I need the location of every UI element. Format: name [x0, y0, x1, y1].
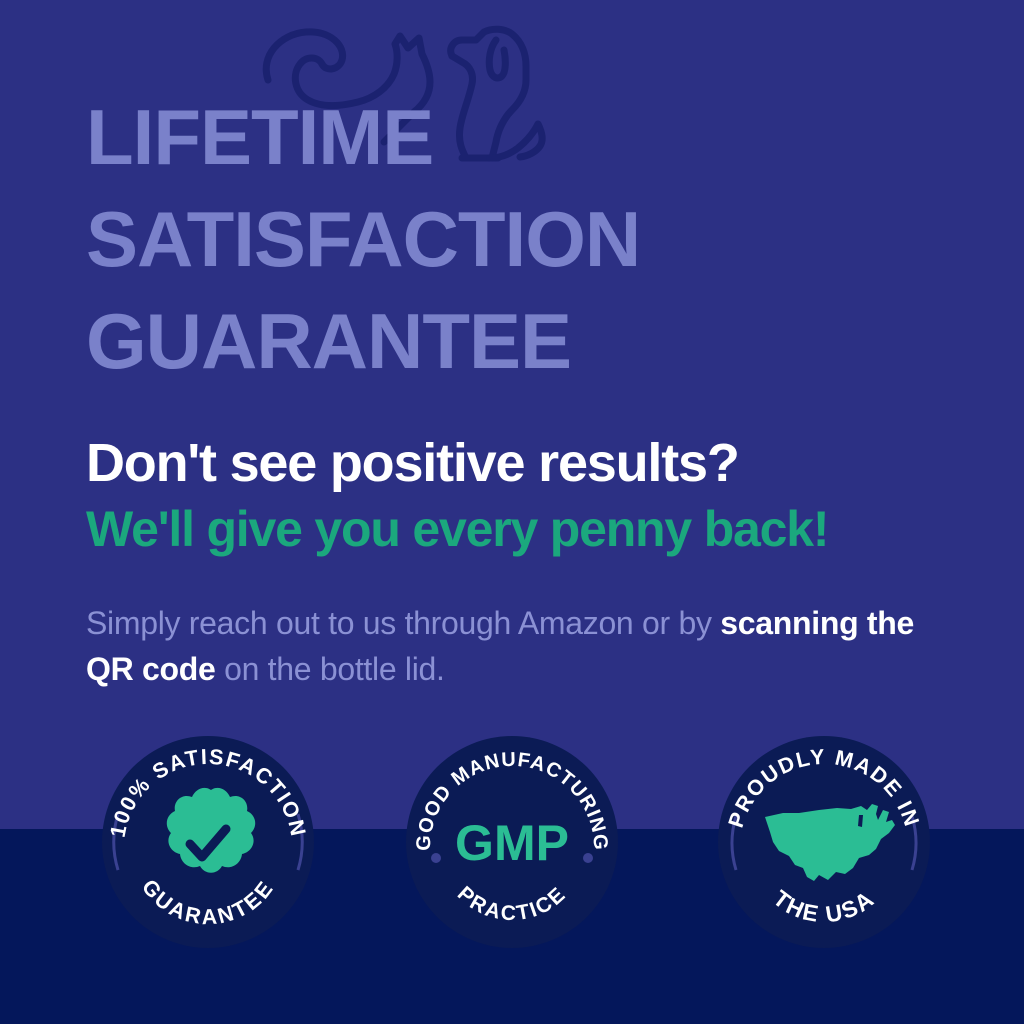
badge-center-text: GMP [455, 815, 569, 871]
made-in-usa-badge: PROUDLY MADE IN THE USA PROUDLY MADE IN … [718, 736, 930, 948]
instruction-text-part1: Simply reach out to us through Amazon or… [86, 605, 720, 641]
gmp-badge: GMP GOOD MANUFACTURING PRACTICE GOOD MAN… [406, 736, 618, 948]
hero-title-line-3: GUARANTEE [86, 290, 786, 392]
subheadline-answer: We'll give you every penny back! [86, 498, 946, 560]
instruction-text: Simply reach out to us through Amazon or… [86, 600, 966, 692]
badge-dot-left [431, 853, 441, 863]
instruction-text-part2: on the bottle lid. [215, 651, 444, 687]
subheadline-block: Don't see positive results? We'll give y… [86, 432, 946, 560]
guarantee-poster: LIFETIME SATISFACTION GUARANTEE Don't se… [0, 0, 1024, 1024]
trust-badges-row: 100% SATISFACTION GUARANTEE 100% SATISFA… [0, 736, 1024, 948]
subheadline-question: Don't see positive results? [86, 432, 946, 494]
satisfaction-guarantee-badge: 100% SATISFACTION GUARANTEE 100% SATISFA… [102, 736, 314, 948]
hero-title-line-2: SATISFACTION [86, 188, 786, 290]
hero-title-line-1: LIFETIME [86, 86, 786, 188]
hero-title: LIFETIME SATISFACTION GUARANTEE [86, 86, 786, 392]
badge-dot-right [583, 853, 593, 863]
